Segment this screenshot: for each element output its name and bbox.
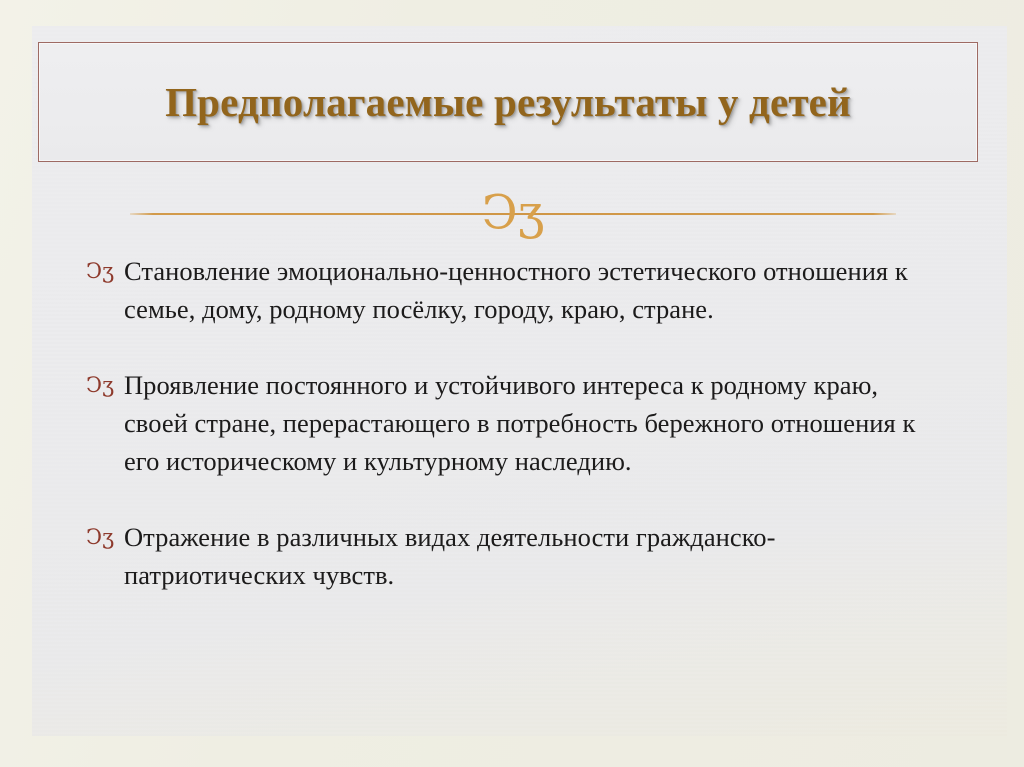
list-item-label: Отражение в различных видах деятельности…	[124, 518, 948, 594]
decorative-divider: Ↄʒ	[130, 190, 896, 238]
slide-title-box: Предполагаемые результаты у детей	[38, 42, 978, 162]
presentation-slide: Предполагаемые результаты у детей Ↄʒ Ↄʒ …	[0, 0, 1024, 767]
flourish-ornament-icon: Ↄʒ	[476, 190, 551, 237]
list-item-label: Проявление постоянного и устойчивого инт…	[124, 366, 948, 480]
bullet-list: Ↄʒ Становление эмоционально-ценностного …	[86, 252, 948, 594]
list-item: Ↄʒ Проявление постоянного и устойчивого …	[86, 366, 948, 480]
bullet-ornament-icon: Ↄʒ	[86, 518, 124, 556]
list-item: Ↄʒ Становление эмоционально-ценностного …	[86, 252, 948, 328]
bullet-ornament-icon: Ↄʒ	[86, 252, 124, 290]
page-title: Предполагаемые результаты у детей	[165, 78, 851, 126]
list-item-label: Становление эмоционально-ценностного эст…	[124, 252, 948, 328]
list-item: Ↄʒ Отражение в различных видах деятельно…	[86, 518, 948, 594]
bullet-ornament-icon: Ↄʒ	[86, 366, 124, 404]
